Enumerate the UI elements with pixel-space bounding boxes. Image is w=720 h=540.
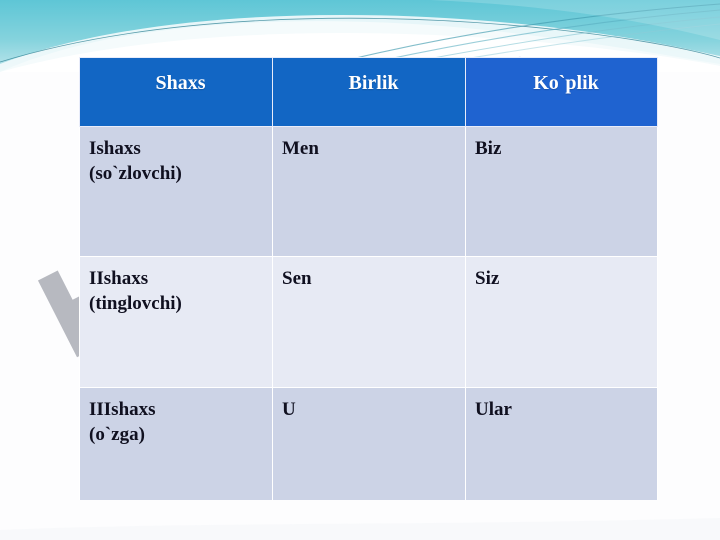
slide: 24 Hujjat Shaxs Birlik Ko`plik Ishaxs (s… <box>0 0 720 540</box>
column-header-shaxs[interactable]: Shaxs <box>80 58 273 127</box>
person-label-3: IIIshaxs <box>89 398 272 423</box>
person-note-1: (so`zlovchi) <box>89 162 272 187</box>
cell-plural-1: Biz <box>466 127 658 257</box>
decorative-footer <box>0 500 720 540</box>
cell-singular-2: Sen <box>273 257 466 388</box>
cell-person-2: IIshaxs (tinglovchi) <box>80 257 273 388</box>
person-note-3: (o`zga) <box>89 423 272 448</box>
footer-graphic <box>0 500 720 540</box>
table-row: Ishaxs (so`zlovchi) Men Biz <box>80 127 658 257</box>
table-row: IIIshaxs (o`zga) U Ular <box>80 388 658 518</box>
cell-person-3: IIIshaxs (o`zga) <box>80 388 273 518</box>
table-header-row: Shaxs Birlik Ko`plik <box>80 58 658 127</box>
column-header-koplik[interactable]: Ko`plik <box>466 58 658 127</box>
person-label-1: Ishaxs <box>89 137 272 162</box>
table-body: Ishaxs (so`zlovchi) Men Biz IIshaxs (tin… <box>80 127 658 518</box>
person-note-2: (tinglovchi) <box>89 292 272 317</box>
table-row: IIshaxs (tinglovchi) Sen Siz <box>80 257 658 388</box>
cell-plural-3: Ular <box>466 388 658 518</box>
person-label-2: IIshaxs <box>89 267 272 292</box>
cell-plural-2: Siz <box>466 257 658 388</box>
cell-singular-3: U <box>273 388 466 518</box>
pronoun-table: Shaxs Birlik Ko`plik Ishaxs (so`zlovchi)… <box>79 57 658 518</box>
table-head: Shaxs Birlik Ko`plik <box>80 58 658 127</box>
cell-person-1: Ishaxs (so`zlovchi) <box>80 127 273 257</box>
column-header-birlik[interactable]: Birlik <box>273 58 466 127</box>
cell-singular-1: Men <box>273 127 466 257</box>
pronoun-table-container: Shaxs Birlik Ko`plik Ishaxs (so`zlovchi)… <box>79 57 657 473</box>
